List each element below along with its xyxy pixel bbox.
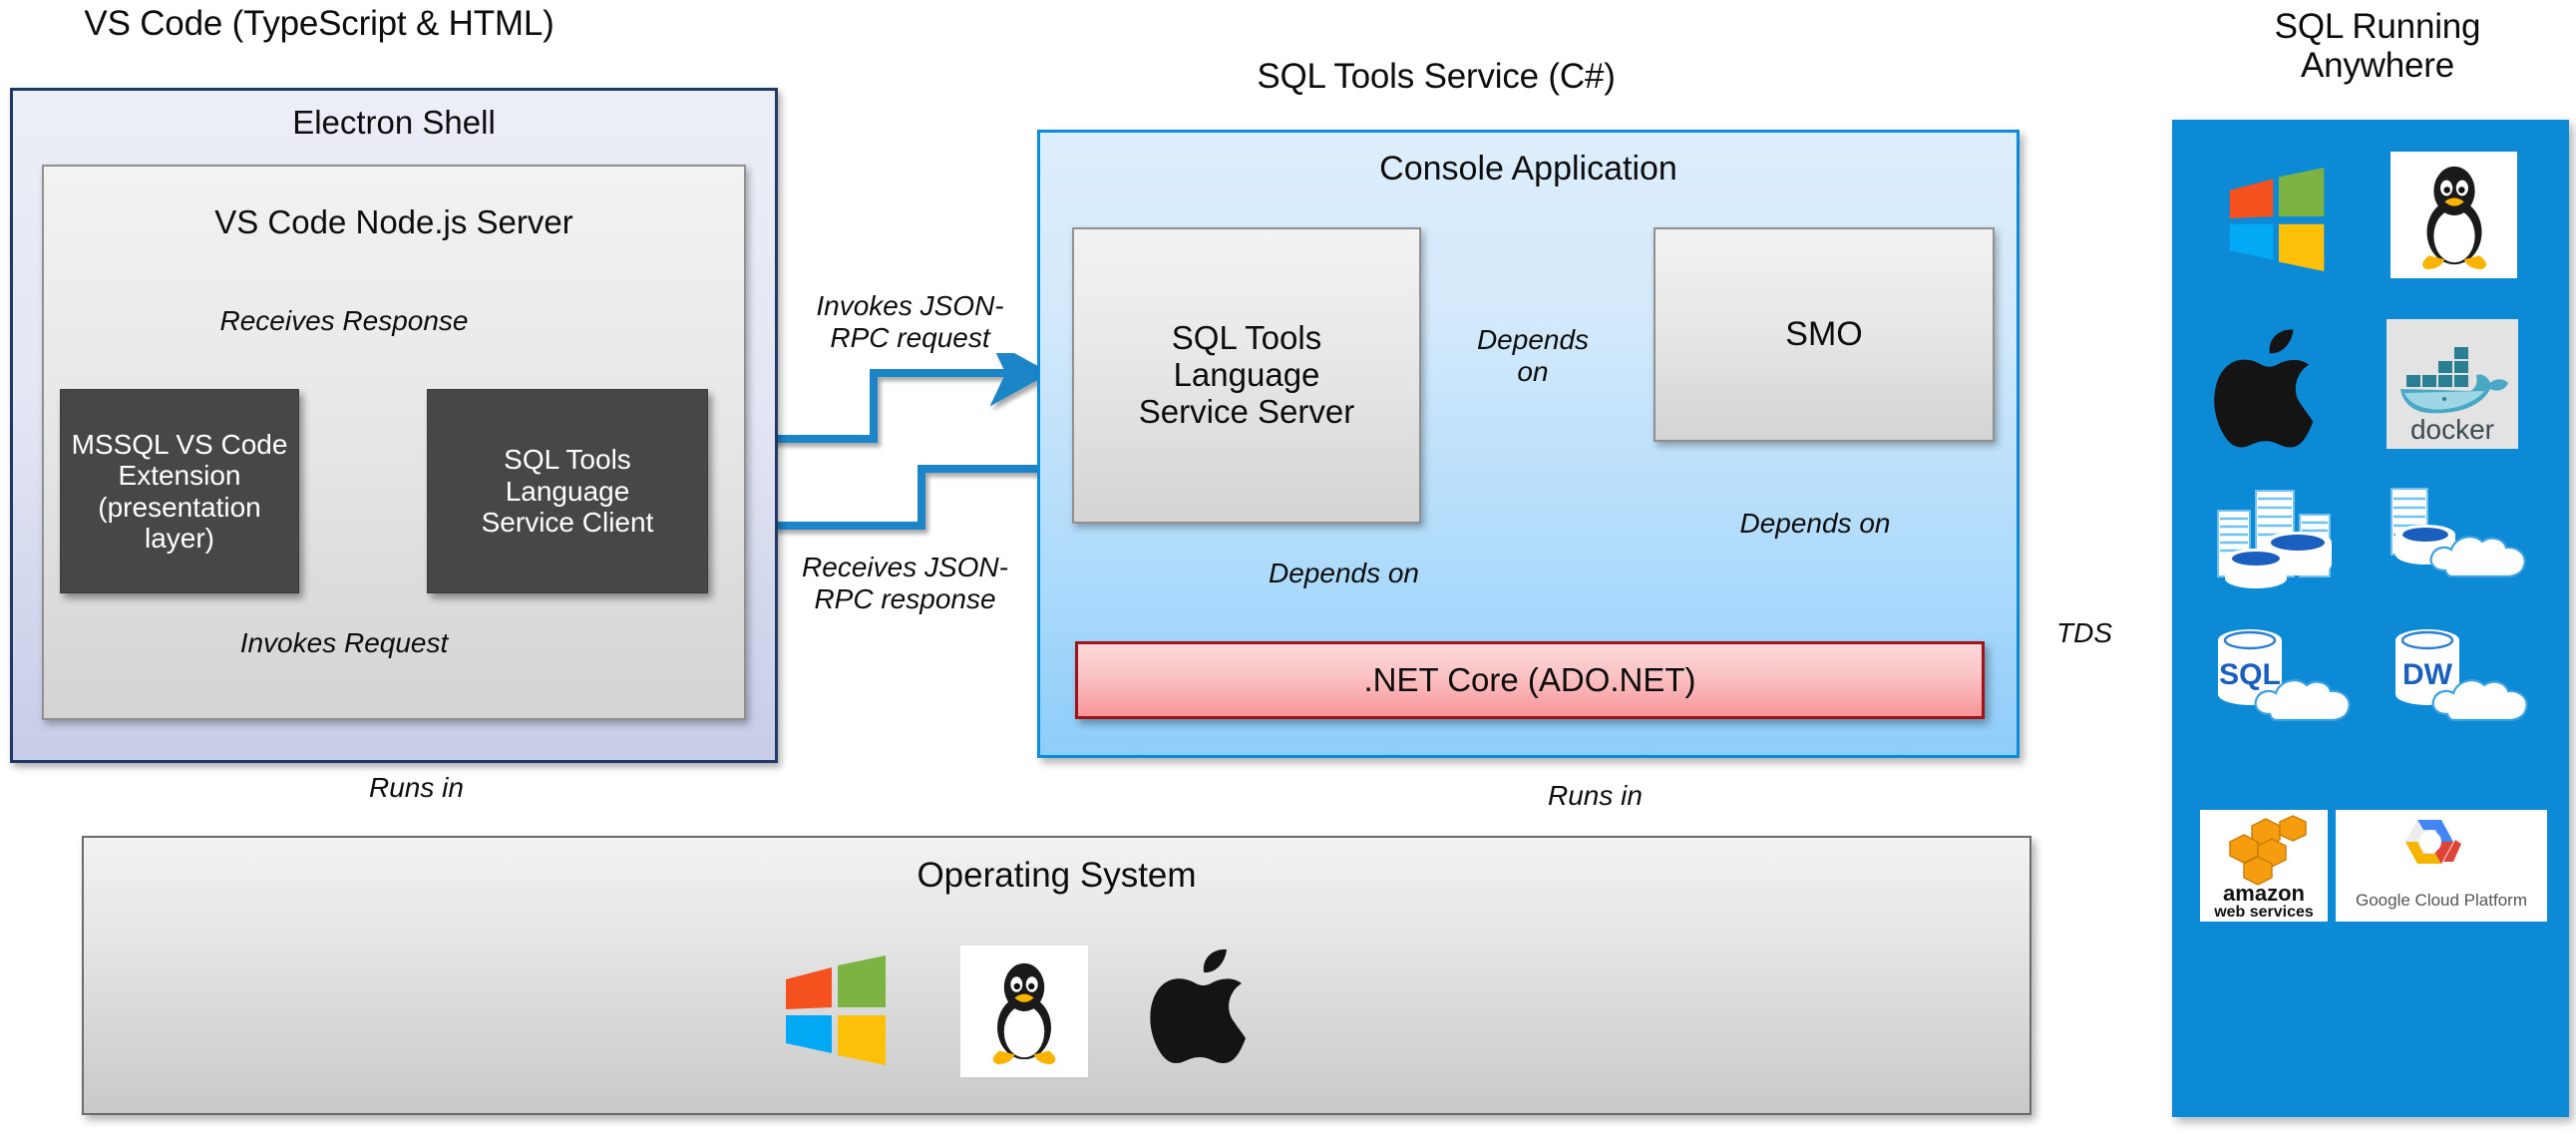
label-runs-in-left: Runs in xyxy=(369,768,558,808)
lsp-client-line-2: Language xyxy=(506,476,630,507)
invokes-jsonrpc-line-2: RPC request xyxy=(830,322,989,354)
label-receives-response: Receives Response xyxy=(180,301,509,341)
architecture-diagram: VS Code (TypeScript & HTML) Electron She… xyxy=(0,0,2576,1134)
dotnet-core-ado-net-box[interactable]: .NET Core (ADO.NET) xyxy=(1075,641,1985,719)
sql-anywhere-caption-line-2: Anywhere xyxy=(2301,46,2454,85)
invokes-jsonrpc-line-1: Invokes JSON- xyxy=(816,290,1003,322)
receives-jsonrpc-line-2: RPC response xyxy=(814,583,995,615)
electron-shell-title: Electron Shell xyxy=(10,100,778,146)
apple-logo xyxy=(2212,317,2338,462)
label-receives-jsonrpc-response: Receives JSON- RPC response xyxy=(788,539,1022,628)
sql-server-on-premises-icon xyxy=(2208,479,2358,590)
caption-sql-tools-service: SQL Tools Service (C#) xyxy=(1037,55,1835,99)
label-tds: TDS xyxy=(2024,613,2144,653)
caption-sql-running-anywhere: SQL Running Anywhere xyxy=(2179,0,2576,92)
apple-logo xyxy=(1149,938,1269,1077)
aws-wordmark-line-1: amazon xyxy=(2223,881,2305,906)
lsp-client-line-3: Service Client xyxy=(482,507,654,538)
label-invokes-jsonrpc-request: Invokes JSON- RPC request xyxy=(798,277,1022,367)
lsp-client-line-1: SQL Tools xyxy=(504,444,631,475)
windows-logo xyxy=(2226,168,2330,271)
console-application-title: Console Application xyxy=(1037,145,2020,192)
sql-tools-language-service-server-box[interactable]: SQL Tools Language Service Server xyxy=(1072,227,1421,524)
depends-on-smo-line-2: on xyxy=(1517,356,1548,388)
linux-tux-logo xyxy=(960,945,1088,1077)
google-cloud-platform-logo: Google Cloud Platform xyxy=(2336,810,2547,922)
docker-logo: docker xyxy=(2387,319,2518,449)
sql-anywhere-caption-line-1: SQL Running xyxy=(2275,7,2481,46)
windows-logo xyxy=(782,955,892,1065)
aws-wordmark-line-2: web services xyxy=(2213,904,2314,921)
sql-tools-language-service-client-box[interactable]: SQL Tools Language Service Client xyxy=(427,389,708,593)
amazon-web-services-logo: amazon web services xyxy=(2200,810,2328,922)
gcp-wordmark: Google Cloud Platform xyxy=(2356,891,2527,910)
smo-box[interactable]: SMO xyxy=(1654,227,1995,442)
caption-vscode: VS Code (TypeScript & HTML) xyxy=(40,2,598,46)
extension-line-2: Extension xyxy=(119,460,241,491)
vscode-node-server-title: VS Code Node.js Server xyxy=(42,199,746,245)
sql-cylinder-label: SQL xyxy=(2219,658,2281,691)
lsp-server-line-2: Language xyxy=(1174,357,1320,394)
mssql-vscode-extension-box[interactable]: MSSQL VS Code Extension (presentation la… xyxy=(60,389,299,593)
label-depends-on-ado-from-lsp: Depends on xyxy=(1269,554,1528,593)
sql-server-vm-cloud-icon xyxy=(2384,479,2543,590)
label-runs-in-right: Runs in xyxy=(1548,776,1737,816)
operating-system-title: Operating System xyxy=(82,853,2031,899)
docker-wordmark: docker xyxy=(2410,414,2494,445)
extension-line-1: MSSQL VS Code xyxy=(72,429,288,460)
dw-cylinder-label: DW xyxy=(2402,658,2453,691)
receives-jsonrpc-line-1: Receives JSON- xyxy=(802,552,1008,583)
extension-line-3: (presentation xyxy=(98,492,260,523)
azure-sql-database-icon: SQL xyxy=(2208,622,2370,734)
depends-on-smo-line-1: Depends xyxy=(1477,324,1589,356)
linux-tux-logo xyxy=(2391,152,2517,278)
extension-line-4: layer) xyxy=(145,523,214,554)
lsp-server-line-3: Service Server xyxy=(1139,394,1354,431)
label-invokes-request: Invokes Request xyxy=(180,623,509,663)
label-depends-on-smo: Depends on xyxy=(1433,314,1633,398)
lsp-server-line-1: SQL Tools xyxy=(1172,320,1321,357)
label-depends-on-ado-from-smo: Depends on xyxy=(1685,504,1945,544)
azure-sql-data-warehouse-icon: DW xyxy=(2386,622,2547,734)
